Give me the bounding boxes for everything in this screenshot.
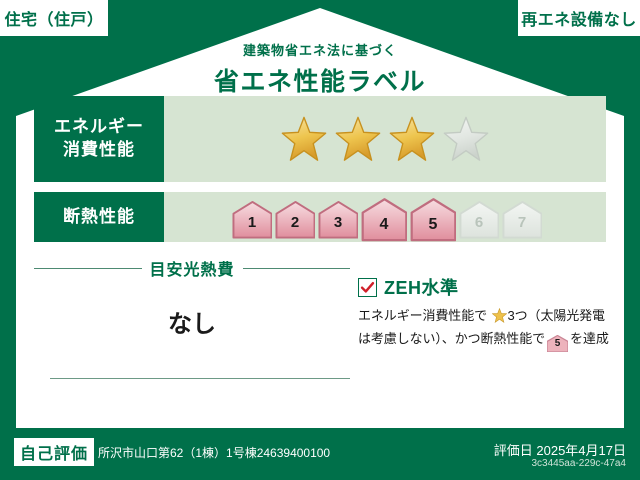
grade-icon-inline-value: 5 bbox=[555, 338, 560, 349]
insulation-grade-value: 5 bbox=[429, 216, 438, 234]
divider-left bbox=[34, 268, 142, 269]
insulation-grade-1: 1 bbox=[232, 200, 273, 234]
grade-icon-inline: 5 bbox=[547, 335, 568, 351]
insulation-grade-2: 2 bbox=[275, 200, 316, 234]
evaluation-id: 3c3445aa-229c-47a4 bbox=[531, 458, 626, 469]
insulation-grade-value: 3 bbox=[334, 214, 342, 231]
insulation-grade-scale: 1234567 bbox=[164, 192, 606, 242]
star-icon-filled bbox=[335, 116, 381, 162]
insulation-grade-7: 7 bbox=[502, 200, 543, 234]
badge-housing-type-label: 住宅（住戸） bbox=[4, 6, 103, 30]
self-evaluation-badge: 自己評価 bbox=[14, 438, 94, 466]
insulation-performance-row: 断熱性能 1234567 bbox=[34, 192, 606, 242]
star-rating bbox=[164, 96, 606, 182]
badge-renewable-equipment: 再エネ設備なし bbox=[518, 0, 640, 36]
star-icon-inline bbox=[488, 311, 507, 326]
star-icon-filled bbox=[389, 116, 435, 162]
insulation-grade-value: 6 bbox=[475, 214, 483, 231]
badge-housing-type: 住宅（住戸） bbox=[0, 0, 108, 36]
energy-performance-label-line1: エネルギー bbox=[54, 116, 144, 139]
insulation-performance-label-text: 断熱性能 bbox=[63, 206, 135, 229]
zeh-standard-block: ZEH水準 エネルギー消費性能で 3つ（太陽光発電 は考慮しない）、かつ断熱性能… bbox=[358, 274, 616, 351]
energy-performance-label: エネルギー 消費性能 bbox=[34, 96, 164, 182]
evaluation-date: 評価日 2025年4月17日 bbox=[494, 440, 626, 459]
energy-label-card: 住宅（住戸） 再エネ設備なし 建築物省エネ法に基づく 省エネ性能ラベル エネルギ… bbox=[0, 0, 640, 480]
zeh-desc-part3: を達成 bbox=[570, 331, 609, 346]
insulation-grade-3: 3 bbox=[318, 200, 359, 234]
insulation-grade-value: 1 bbox=[248, 214, 256, 231]
label-footer: 自己評価 所沢市山口第62（1棟）1号棟24639400100 評価日 2025… bbox=[0, 428, 640, 480]
zeh-desc-part1: エネルギー消費性能で bbox=[358, 308, 487, 323]
lower-section: 目安光熱費 なし ZEH水準 エネルギー消費性能で bbox=[18, 256, 622, 426]
property-address: 所沢市山口第62（1棟）1号棟24639400100 bbox=[98, 444, 330, 461]
badge-renewable-equipment-label: 再エネ設備なし bbox=[521, 6, 637, 30]
insulation-grade-value: 2 bbox=[291, 214, 299, 231]
star-icon-empty bbox=[443, 116, 489, 162]
utility-cost-underline bbox=[50, 378, 350, 379]
divider-right bbox=[243, 268, 351, 269]
energy-performance-label-line2: 消費性能 bbox=[63, 139, 135, 162]
checkmark-icon bbox=[358, 278, 377, 297]
insulation-grade-value: 4 bbox=[380, 216, 389, 234]
zeh-desc-star-count: 3つ（太陽光発電 bbox=[508, 308, 605, 323]
utility-cost-value: なし bbox=[34, 304, 350, 339]
insulation-grade-5: 5 bbox=[410, 197, 457, 237]
insulation-performance-label: 断熱性能 bbox=[34, 192, 164, 242]
zeh-header: ZEH水準 bbox=[358, 274, 616, 300]
label-content: エネルギー 消費性能 断熱性能 1234567 目安光熱費 なし bbox=[18, 96, 622, 426]
zeh-desc-part2: は考慮しない）、かつ断熱性能で bbox=[358, 331, 545, 346]
zeh-standard-title: ZEH水準 bbox=[384, 274, 459, 300]
insulation-grade-value: 7 bbox=[518, 214, 526, 231]
zeh-standard-description: エネルギー消費性能で 3つ（太陽光発電 は考慮しない）、かつ断熱性能で 5を達成 bbox=[358, 306, 616, 351]
utility-cost-header: 目安光熱費 bbox=[34, 256, 350, 280]
insulation-grade-6: 6 bbox=[459, 200, 500, 234]
star-icon-filled bbox=[281, 116, 327, 162]
energy-performance-row: エネルギー 消費性能 bbox=[34, 96, 606, 182]
utility-cost-title: 目安光熱費 bbox=[150, 256, 235, 280]
insulation-grade-4: 4 bbox=[361, 197, 408, 237]
